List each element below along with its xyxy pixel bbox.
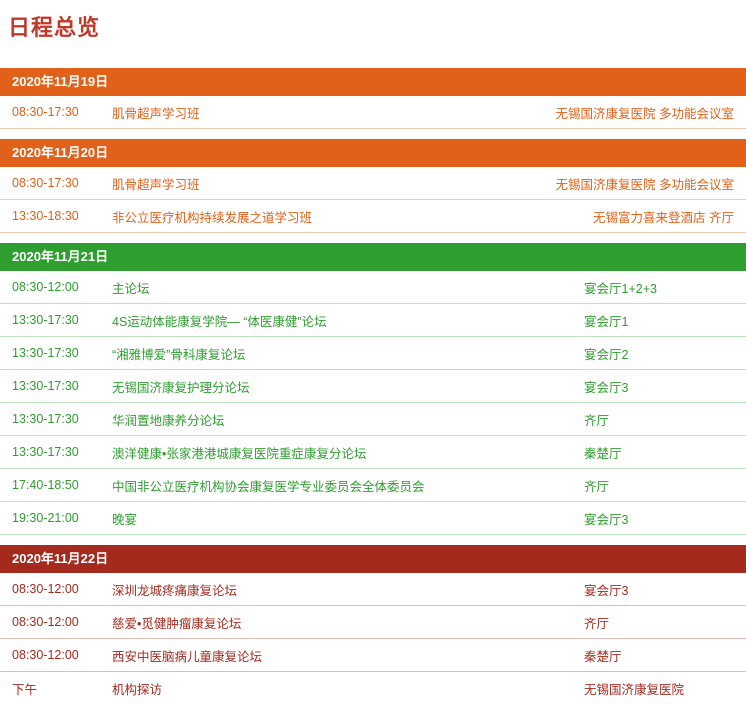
session-time: 08:30-17:30 [12,176,104,190]
session-venue: 无锡国济康复医院 [574,679,734,698]
day-block: 2020年11月20日08:30-17:30肌骨超声学习班无锡国济康复医院 多功… [0,139,746,233]
session-title: 非公立医疗机构持续发展之道学习班 [104,207,583,226]
session-time: 13:30-17:30 [12,313,104,327]
session-venue: 齐厅 [574,613,734,632]
day-block: 2020年11月21日08:30-12:00主论坛宴会厅1+2+313:30-1… [0,243,746,535]
schedule-list: 2020年11月19日08:30-17:30肌骨超声学习班无锡国济康复医院 多功… [0,68,746,705]
schedule-row[interactable]: 08:30-12:00主论坛宴会厅1+2+3 [0,271,746,304]
section-gap [0,129,746,139]
session-time: 13:30-17:30 [12,379,104,393]
session-title: 肌骨超声学习班 [104,174,546,193]
day-rows: 08:30-17:30肌骨超声学习班无锡国济康复医院 多功能会议室 [0,96,746,129]
schedule-row[interactable]: 17:40-18:50中国非公立医疗机构协会康复医学专业委员会全体委员会齐厅 [0,469,746,502]
schedule-page: 日程总览 2020年11月19日08:30-17:30肌骨超声学习班无锡国济康复… [0,10,746,705]
session-title: 主论坛 [104,278,574,297]
session-title: 机构探访 [104,679,574,698]
session-time: 08:30-12:00 [12,582,104,596]
day-rows: 08:30-12:00主论坛宴会厅1+2+313:30-17:304S运动体能康… [0,271,746,535]
schedule-row[interactable]: 08:30-12:00慈爱•觅健肿瘤康复论坛齐厅 [0,606,746,639]
session-time: 下午 [12,679,104,698]
session-venue: 无锡国济康复医院 多功能会议室 [546,174,734,193]
session-venue: 宴会厅3 [574,580,734,599]
session-venue: 齐厅 [574,410,734,429]
session-time: 19:30-21:00 [12,511,104,525]
day-block: 2020年11月22日08:30-12:00深圳龙城疼痛康复论坛宴会厅308:3… [0,545,746,705]
session-title: 无锡国济康复护理分论坛 [104,377,574,396]
day-header: 2020年11月19日 [0,68,746,96]
session-time: 08:30-12:00 [12,615,104,629]
schedule-row[interactable]: 13:30-18:30非公立医疗机构持续发展之道学习班无锡富力喜来登酒店 齐厅 [0,200,746,233]
day-rows: 08:30-17:30肌骨超声学习班无锡国济康复医院 多功能会议室13:30-1… [0,167,746,233]
session-title: 西安中医脑病儿童康复论坛 [104,646,574,665]
schedule-row[interactable]: 下午机构探访无锡国济康复医院 [0,672,746,705]
session-time: 08:30-12:00 [12,648,104,662]
session-time: 17:40-18:50 [12,478,104,492]
schedule-row[interactable]: 08:30-12:00深圳龙城疼痛康复论坛宴会厅3 [0,573,746,606]
schedule-row[interactable]: 13:30-17:30澳洋健康•张家港港城康复医院重症康复分论坛秦楚厅 [0,436,746,469]
session-venue: 宴会厅1 [574,311,734,330]
page-title: 日程总览 [8,10,746,42]
session-venue: 宴会厅2 [574,344,734,363]
session-venue: 宴会厅3 [574,377,734,396]
day-header: 2020年11月21日 [0,243,746,271]
session-venue: 秦楚厅 [574,646,734,665]
session-venue: 无锡国济康复医院 多功能会议室 [546,103,734,122]
session-title: 肌骨超声学习班 [104,103,546,122]
day-block: 2020年11月19日08:30-17:30肌骨超声学习班无锡国济康复医院 多功… [0,68,746,129]
section-gap [0,535,746,545]
day-header: 2020年11月22日 [0,545,746,573]
schedule-row[interactable]: 13:30-17:30无锡国济康复护理分论坛宴会厅3 [0,370,746,403]
session-title: “湘雅博爱”骨科康复论坛 [104,344,574,363]
session-title: 深圳龙城疼痛康复论坛 [104,580,574,599]
session-title: 华润置地康养分论坛 [104,410,574,429]
session-time: 13:30-17:30 [12,445,104,459]
session-title: 慈爱•觅健肿瘤康复论坛 [104,613,574,632]
schedule-row[interactable]: 13:30-17:30华润置地康养分论坛齐厅 [0,403,746,436]
session-time: 08:30-12:00 [12,280,104,294]
session-time: 13:30-17:30 [12,412,104,426]
session-venue: 宴会厅1+2+3 [574,278,734,297]
day-header: 2020年11月20日 [0,139,746,167]
schedule-row[interactable]: 13:30-17:304S运动体能康复学院— “体医康健”论坛宴会厅1 [0,304,746,337]
schedule-row[interactable]: 08:30-17:30肌骨超声学习班无锡国济康复医院 多功能会议室 [0,167,746,200]
session-venue: 齐厅 [574,476,734,495]
session-venue: 宴会厅3 [574,509,734,528]
session-title: 中国非公立医疗机构协会康复医学专业委员会全体委员会 [104,476,574,495]
section-gap [0,233,746,243]
session-venue: 无锡富力喜来登酒店 齐厅 [583,207,734,226]
session-title: 澳洋健康•张家港港城康复医院重症康复分论坛 [104,443,574,462]
session-time: 13:30-17:30 [12,346,104,360]
schedule-row[interactable]: 08:30-12:00西安中医脑病儿童康复论坛秦楚厅 [0,639,746,672]
schedule-row[interactable]: 08:30-17:30肌骨超声学习班无锡国济康复医院 多功能会议室 [0,96,746,129]
schedule-row[interactable]: 19:30-21:00晚宴宴会厅3 [0,502,746,535]
session-time: 13:30-18:30 [12,209,104,223]
day-rows: 08:30-12:00深圳龙城疼痛康复论坛宴会厅308:30-12:00慈爱•觅… [0,573,746,705]
session-title: 4S运动体能康复学院— “体医康健”论坛 [104,311,574,330]
session-venue: 秦楚厅 [574,443,734,462]
schedule-row[interactable]: 13:30-17:30“湘雅博爱”骨科康复论坛宴会厅2 [0,337,746,370]
session-time: 08:30-17:30 [12,105,104,119]
session-title: 晚宴 [104,509,574,528]
